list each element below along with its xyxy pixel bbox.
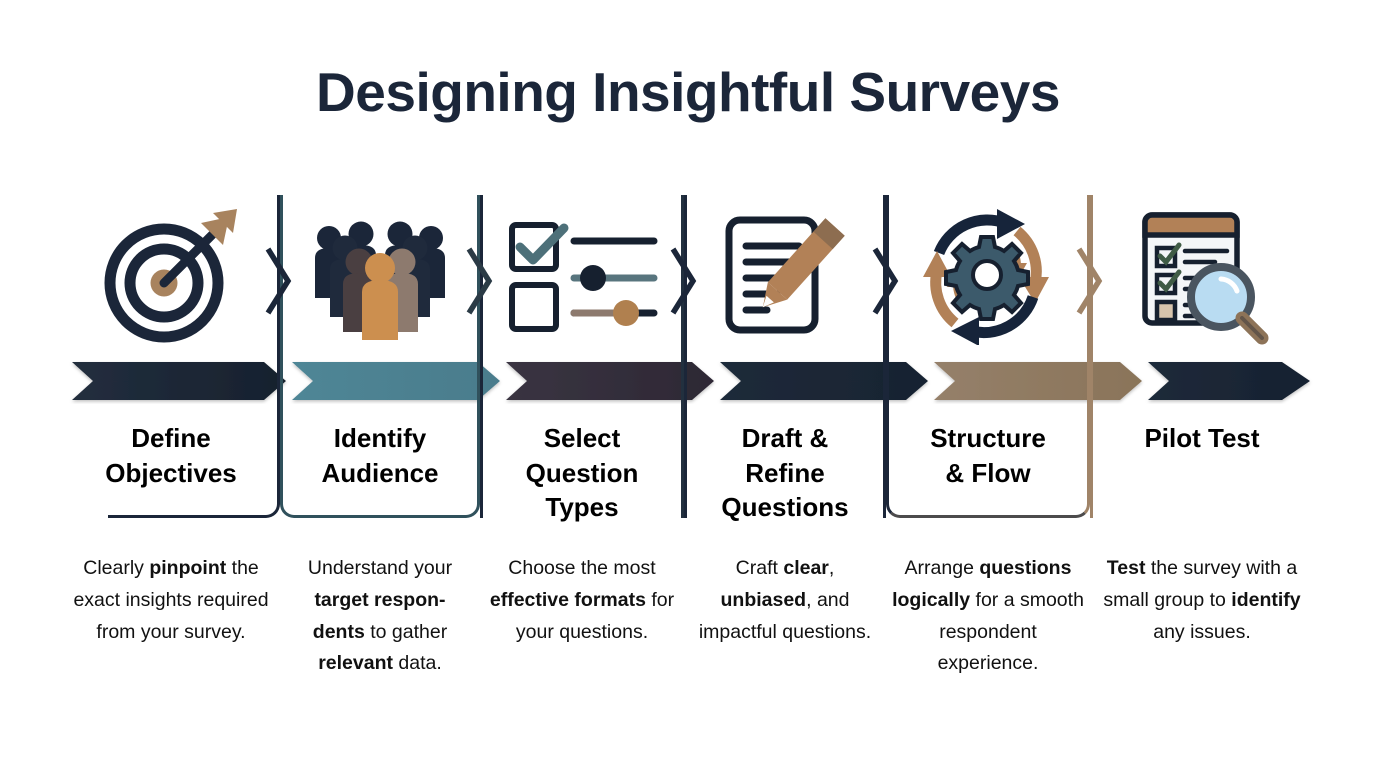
people-group-icon — [305, 210, 455, 340]
document-pencil-icon-cell — [684, 195, 886, 355]
step-column-pilot-test[interactable]: Pilot Test Test the survey with a small … — [1090, 195, 1314, 695]
step-label-line: Select — [486, 421, 678, 456]
step-label-4: Draft & Refine Questions — [684, 421, 886, 525]
step-label-line: Identify — [286, 421, 474, 456]
step-label-line: & Flow — [892, 456, 1084, 491]
step-label-line: Refine — [690, 456, 880, 491]
step-label-line: Types — [486, 490, 678, 525]
step-desc-5: Arrange questions logically for a smooth… — [886, 553, 1090, 680]
page-title: Designing Insightful Surveys — [0, 60, 1376, 124]
checkbox-sliders-icon — [502, 213, 662, 338]
step-label-3: Select Question Types — [480, 421, 684, 525]
step-desc-4: Craft clear, unbiased, and impactful que… — [684, 553, 886, 648]
checkbox-sliders-icon-cell — [480, 195, 684, 355]
step-label-6: Pilot Test — [1090, 421, 1314, 456]
step-column-define-objectives[interactable]: Define Objectives Clearly pinpoint the e… — [62, 195, 280, 695]
clipboard-magnifier-icon — [1127, 205, 1277, 345]
clipboard-magnifier-icon-cell — [1090, 195, 1314, 355]
step-label-line: Structure — [892, 421, 1084, 456]
step-label-line: Questions — [690, 490, 880, 525]
target-arrow-icon — [101, 205, 241, 345]
step-desc-2: Understand your target respon‑dents to g… — [280, 553, 480, 680]
step-desc-3: Choose the most effective formats for yo… — [480, 553, 684, 648]
document-pencil-icon — [715, 208, 855, 343]
step-desc-1: Clearly pinpoint the exact insights requ… — [62, 553, 280, 648]
gear-cycle-icon — [913, 205, 1063, 345]
infographic-canvas: Designing Insightful Surveys — [0, 0, 1376, 768]
step-column-identify-audience[interactable]: Identify Audience Understand your target… — [280, 195, 480, 695]
step-column-select-question-types[interactable]: Select Question Types Choose the most ef… — [480, 195, 684, 695]
step-column-structure-flow[interactable]: Structure & Flow Arrange questions logic… — [886, 195, 1090, 695]
step-desc-6: Test the survey with a small group to id… — [1090, 553, 1314, 648]
people-group-icon-cell — [280, 195, 480, 355]
step-label-2: Identify Audience — [280, 421, 480, 490]
step-label-5: Structure & Flow — [886, 421, 1090, 490]
gear-cycle-icon-cell — [886, 195, 1090, 355]
step-label-1: Define Objectives — [62, 421, 280, 490]
step-label-line: Question — [486, 456, 678, 491]
step-label-line: Pilot Test — [1096, 421, 1308, 456]
step-label-line: Audience — [286, 456, 474, 491]
step-label-line: Define — [68, 421, 274, 456]
step-column-draft-refine-questions[interactable]: Draft & Refine Questions Craft clear, un… — [684, 195, 886, 695]
target-arrow-icon-cell — [62, 195, 280, 355]
step-label-line: Objectives — [68, 456, 274, 491]
step-label-line: Draft & — [690, 421, 880, 456]
